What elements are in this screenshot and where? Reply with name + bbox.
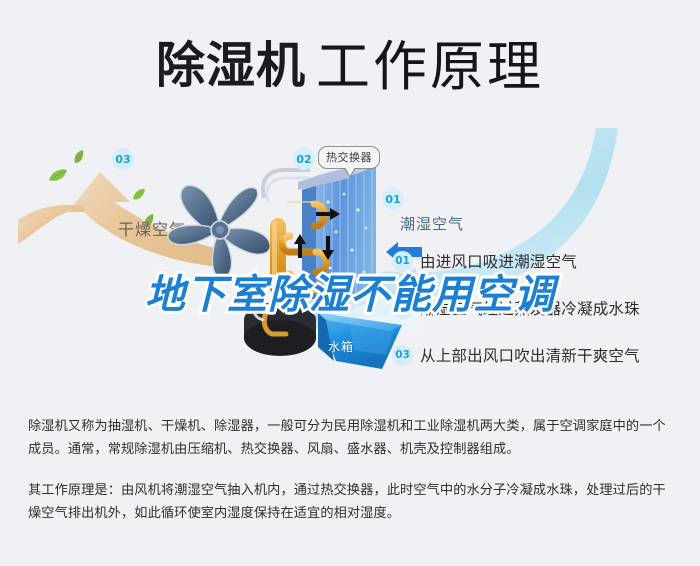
leaf-icon [73, 150, 85, 164]
page-title-part1: 除湿机 [156, 37, 306, 94]
page-title: 除湿机工作原理 [0, 22, 700, 101]
diagram-badge-03: 03 [112, 148, 134, 170]
diagram-badge-01: 01 [382, 188, 404, 210]
step-number-badge: 03 [392, 345, 413, 366]
leaf-icon [48, 168, 68, 184]
list-item: 03 从上部出风口吹出清新干爽空气 [392, 340, 692, 370]
page-title-part2: 工作原理 [316, 35, 544, 98]
description-block: 除湿机又称为抽湿机、干燥机、除湿器，一般可分为民用除湿机和工业除湿机两大类，属于… [28, 415, 674, 525]
diagram-badge-02: 02 [293, 148, 315, 170]
compressor-base-icon [240, 290, 320, 360]
heat-exchanger-callout: 热交换器 [318, 146, 380, 169]
step-number-badge: 01 [392, 251, 413, 272]
step-number-badge: 02 [392, 298, 413, 319]
step-list: 01 由进风口吸进潮湿空气 02 潮湿空气经过蒸发器冷凝成水珠 03 从上部出风… [392, 246, 692, 387]
list-item: 02 潮湿空气经过蒸发器冷凝成水珠 [392, 293, 692, 323]
description-paragraph-1: 除湿机又称为抽湿机、干燥机、除湿器，一般可分为民用除湿机和工业除湿机两大类，属于… [28, 415, 674, 461]
list-item: 01 由进风口吸进潮湿空气 [392, 246, 692, 276]
step-label: 由进风口吸进潮湿空气 [420, 250, 577, 272]
poster-root: 除湿机工作原理 [0, 0, 700, 566]
leaf-icon [132, 188, 146, 201]
step-label: 从上部出风口吹出清新干爽空气 [420, 344, 640, 366]
water-tank-label: 水箱 [328, 338, 354, 355]
humid-air-label: 潮湿空气 [400, 213, 464, 234]
description-paragraph-2: 其工作原理是：由风机将潮湿空气抽入机内，通过热交换器，此时空气中的水分子冷凝成水… [28, 479, 674, 525]
step-label: 潮湿空气经过蒸发器冷凝成水珠 [420, 297, 640, 319]
